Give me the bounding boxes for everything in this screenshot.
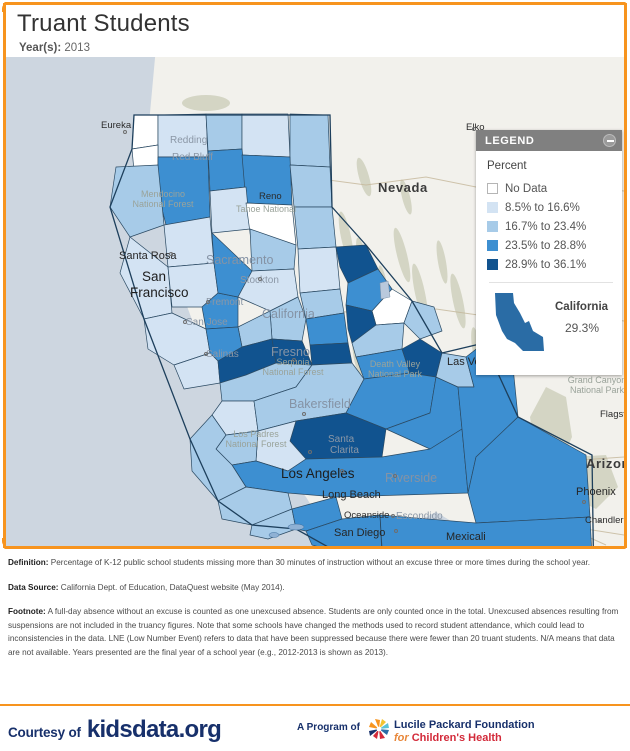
legend-subtitle: Percent [487,160,622,172]
city-dot-san-jose [183,320,187,324]
choropleth-map[interactable]: Eureka Redding Red Bluff Santa Rosa San … [6,57,624,546]
courtesy-block: Courtesy of kidsdata.org [8,718,221,742]
legend-swatch-bucket-4 [487,259,498,270]
note-footnote-text: A full-day absence without an excuse is … [8,607,618,657]
legend-item-bucket-2[interactable]: 16.7% to 23.4% [487,217,622,236]
city-dot-phoenix [582,500,586,504]
minus-circle-icon[interactable] [603,134,616,147]
city-dot-riverside [393,474,397,478]
legend-label-no-data: No Data [505,183,547,195]
legend-label-bucket-2: 16.7% to 23.4% [505,221,586,233]
frame-right-border [624,3,627,548]
lucile-packard-starburst-icon [366,716,392,742]
city-dot-stockton [258,277,262,281]
note-footnote: Footnote: A full-day absence without an … [8,605,622,659]
city-dot-santa-rosa [169,252,173,256]
legend-body: Percent No Data 8.5% to 16.6% 16.7% to 2… [476,151,622,357]
city-dot-san-diego [394,529,398,533]
legend-title: LEGEND [485,135,603,147]
note-data-source: Data Source: California Dept. of Educati… [8,581,622,595]
legend-item-bucket-1[interactable]: 8.5% to 16.6% [487,198,622,217]
city-dot-fremont [206,300,210,304]
city-dot-escondido [391,514,395,518]
city-dot-eureka [123,130,127,134]
legend-swatch-no-data [487,183,498,194]
title-block: Truant Students Year(s): 2013 [6,5,624,57]
frame-bottom-border [4,546,626,549]
city-dot-santa-clarita [308,450,312,454]
city-dot-salinas [204,352,208,356]
legend-label-bucket-4: 28.9% to 36.1% [505,259,586,271]
note-source-text: California Dept. of Education, DataQuest… [59,583,285,592]
year-value: 2013 [64,42,90,54]
foundation-tagline-prefix: for [394,732,412,744]
legend-swatch-bucket-3 [487,240,498,251]
year-row: Year(s): 2013 [19,41,90,55]
legend-state-value: 29.3% [565,321,599,335]
legend-state-summary: California 29.3% [487,283,622,357]
foundation-tagline-main: Children's Health [412,732,502,744]
program-of-label: A Program of [297,722,360,733]
courtesy-label: Courtesy of [8,725,81,740]
note-source-label: Data Source: [8,583,59,592]
note-definition-label: Definition: [8,558,48,567]
legend-label-bucket-1: 8.5% to 16.6% [505,202,580,214]
note-footnote-label: Footnote: [8,607,46,616]
legend-item-no-data[interactable]: No Data [487,179,622,198]
footer-bar: Courtesy of kidsdata.org A Program of Lu… [0,706,630,751]
year-label: Year(s): [19,42,61,54]
notes-section: Definition: Percentage of K-12 public sc… [0,556,630,659]
note-definition-text: Percentage of K-12 public school student… [48,558,590,567]
note-definition: Definition: Percentage of K-12 public sc… [8,556,622,570]
foundation-tagline: for Children's Health [394,732,502,744]
legend-swatch-bucket-1 [487,202,498,213]
city-dot-los-angeles [340,469,344,473]
map-page: Truant Students Year(s): 2013 [0,0,630,751]
california-shape-icon [493,291,547,353]
legend-item-bucket-3[interactable]: 23.5% to 28.8% [487,236,622,255]
kidsdata-wordmark[interactable]: kidsdata.org [87,718,221,742]
legend-label-bucket-3: 23.5% to 28.8% [505,240,586,252]
foundation-name: Lucile Packard Foundation [394,719,535,731]
city-dot-fresno [292,358,296,362]
legend-state-name: California [555,301,608,313]
page-title: Truant Students [17,9,190,39]
legend-header: LEGEND [476,130,622,151]
legend-swatch-bucket-2 [487,221,498,232]
legend-item-bucket-4[interactable]: 28.9% to 36.1% [487,255,622,274]
city-dot-bakersfield [302,412,306,416]
map-legend[interactable]: LEGEND Percent No Data 8.5% to 16.6% 16.… [476,130,622,375]
city-dot-chandler [598,518,602,522]
